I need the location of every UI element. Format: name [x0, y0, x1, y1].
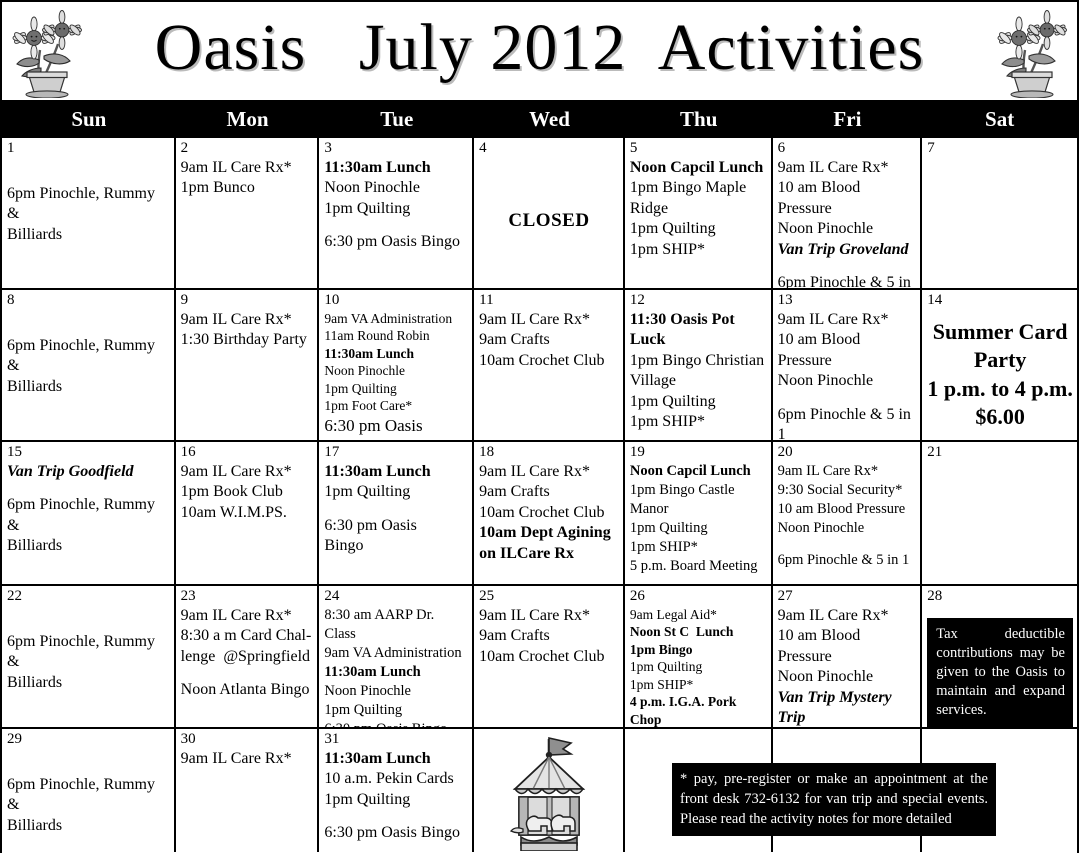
event-spacer: [7, 171, 170, 184]
day-cell-17[interactable]: 1711:30am Lunch1pm Quilting6:30 pm Oasis…: [319, 442, 474, 584]
event-item: 9am VA Administration: [324, 310, 468, 328]
event-item: 10am Crochet Club: [479, 351, 619, 371]
day-number: 20: [778, 444, 917, 462]
event-item: 9am IL Care Rx*: [181, 606, 314, 626]
event-item: Noon Pinochle: [324, 682, 468, 701]
day-cell-24[interactable]: 248:30 am AARP Dr. Class9am VA Administr…: [319, 586, 474, 727]
event-list: 6pm Pinochle, Rummy &Billiards: [7, 158, 170, 245]
event-item: 10 am Blood Pressure: [778, 626, 917, 667]
day-cell-27[interactable]: 279am IL Care Rx*10 am Blood PressureNoo…: [773, 586, 923, 727]
event-item: Noon St C Lunch: [630, 623, 767, 641]
day-cell-31[interactable]: 3111:30am Lunch10 a.m. Pekin Cards1pm Qu…: [319, 729, 474, 852]
day-cell-19[interactable]: 19Noon Capcil Lunch1pm Bingo CastleManor…: [625, 442, 773, 584]
event-item: 10am Crochet Club: [479, 647, 619, 667]
event-list: 9am IL Care Rx*10 am Blood PressureNoon …: [778, 310, 917, 440]
day-number: 12: [630, 292, 767, 310]
event-list: Van Trip Goodfield6pm Pinochle, Rummy &B…: [7, 462, 170, 557]
day-cell-16[interactable]: 169am IL Care Rx*1pm Book Club10am W.I.M…: [176, 442, 320, 584]
event-item: 9:30 Social Security*: [778, 481, 917, 500]
event-item: Noon Pinochle: [778, 519, 917, 538]
day-number: 7: [927, 140, 1073, 158]
event-item: Billiards: [7, 377, 170, 397]
event-item: 6pm Pinochle, Rummy &: [7, 184, 170, 225]
event-list: Noon Capcil Lunch1pm Bingo CastleManor1p…: [630, 462, 767, 577]
event-list: 9am IL Care Rx*10 am Blood PressureNoon …: [778, 606, 917, 727]
event-item: Noon Pinochle: [778, 219, 917, 239]
event-list: 9am IL Care Rx*1pm Book Club10am W.I.M.P…: [181, 462, 314, 523]
day-cell-11[interactable]: 119am IL Care Rx*9am Crafts10am Crochet …: [474, 290, 625, 440]
event-item: Noon Capcil Lunch: [630, 158, 767, 178]
event-item: 11:30 Oasis Pot Luck: [630, 310, 767, 351]
event-item: 9am IL Care Rx*: [181, 158, 314, 178]
day-number: 30: [181, 731, 314, 749]
day-cell-20[interactable]: 209am IL Care Rx*9:30 Social Security*10…: [773, 442, 923, 584]
event-item: Van Trip Mystery Trip: [778, 688, 917, 727]
day-cell-5[interactable]: 5Noon Capcil Lunch1pm Bingo MapleRidge1p…: [625, 138, 773, 288]
event-item: Ridge: [630, 199, 767, 219]
event-list: 6pm Pinochle, Rummy &Billiards: [7, 749, 170, 836]
event-item: 6:30 pm Oasis Bingo: [324, 823, 468, 843]
event-item: 9am IL Care Rx*: [181, 310, 314, 330]
event-item: 1pm Bingo Castle: [630, 481, 767, 500]
event-item: 9am Crafts: [479, 626, 619, 646]
event-spacer: [7, 482, 170, 495]
day-number: 16: [181, 444, 314, 462]
event-list: 11:30am LunchNoon Pinochle1pm Quilting6:…: [324, 158, 468, 253]
day-cell-8[interactable]: 86pm Pinochle, Rummy &Billiards: [2, 290, 176, 440]
day-number: 29: [7, 731, 170, 749]
event-spacer: [7, 158, 170, 171]
event-item: Bingo: [324, 536, 468, 556]
event-item: 9am IL Care Rx*: [778, 158, 917, 178]
event-item: 1pm Quilting: [630, 219, 767, 239]
day-number: 11: [479, 292, 619, 310]
event-list: 9am IL Care Rx*9am Crafts10am Crochet Cl…: [479, 606, 619, 667]
event-list: 6pm Pinochle, Rummy &Billiards: [7, 606, 170, 693]
feature-line: $6.00: [927, 403, 1073, 432]
event-item: 10 a.m. Pekin Cards: [324, 769, 468, 789]
day-cell-22[interactable]: 226pm Pinochle, Rummy &Billiards: [2, 586, 176, 727]
day-number: 6: [778, 140, 917, 158]
event-item: 6:30 pm Oasis Bingo: [324, 415, 468, 440]
event-item: 11:30am Lunch: [324, 663, 468, 682]
day-number: 2: [181, 140, 314, 158]
event-item: 6:30 pm Oasis Bingo: [324, 720, 468, 727]
day-number: 25: [479, 588, 619, 606]
event-spacer: [7, 762, 170, 775]
feature-line: 1 p.m. to 4 p.m.: [927, 375, 1073, 404]
event-item: 6pm Pinochle, Rummy &: [7, 495, 170, 536]
day-number: 26: [630, 588, 767, 606]
event-item: 1pm SHIP*: [630, 538, 767, 557]
calendar-week-row: 16pm Pinochle, Rummy &Billiards29am IL C…: [2, 136, 1077, 288]
event-item: 1pm Quilting: [324, 380, 468, 398]
weekday-header-thu: Thu: [625, 103, 773, 136]
day-number: 18: [479, 444, 619, 462]
event-item: Billiards: [7, 816, 170, 836]
event-item: Van Trip Groveland: [778, 240, 917, 260]
event-item: 11:30am Lunch: [324, 462, 468, 482]
page-title: Oasis July 2012 Activities: [155, 15, 925, 87]
event-list: 9am IL Care Rx*9am Crafts10am Crochet Cl…: [479, 310, 619, 371]
event-item: Noon Pinochle: [778, 667, 917, 687]
event-item: lenge @Springfield: [181, 647, 314, 667]
event-item: 9am Crafts: [479, 330, 619, 350]
day-cell-2[interactable]: 29am IL Care Rx*1pm Bunco: [176, 138, 320, 288]
day-number: 13: [778, 292, 917, 310]
event-spacer: [324, 219, 468, 232]
event-list: 11:30 Oasis Pot Luck1pm Bingo ChristianV…: [630, 310, 767, 433]
event-item: 9am IL Care Rx*: [181, 462, 314, 482]
event-item: 10am Crochet Club: [479, 503, 619, 523]
event-list: 9am IL Care Rx*1pm Bunco: [181, 158, 314, 199]
event-item: 5 p.m. Board Meeting: [630, 557, 767, 576]
event-item: 9am Legal Aid*: [630, 606, 767, 624]
day-number: 17: [324, 444, 468, 462]
event-item: 1:30 Birthday Party: [181, 330, 314, 350]
event-list: 11:30am Lunch1pm Quilting6:30 pm OasisBi…: [324, 462, 468, 557]
event-item: 1pm Bingo Maple: [630, 178, 767, 198]
event-item: 4 p.m. I.G.A. Pork Chop: [630, 693, 767, 727]
day-number: 22: [7, 588, 170, 606]
event-item: 6pm Pinochle & 5 in 1: [778, 551, 917, 570]
day-number: 27: [778, 588, 917, 606]
weekday-header-mon: Mon: [176, 103, 320, 136]
event-item: 6pm Pinochle, Rummy &: [7, 632, 170, 673]
event-list: 8:30 am AARP Dr. Class9am VA Administrat…: [324, 606, 468, 727]
event-item: Noon Pinochle: [778, 371, 917, 391]
day-number: 31: [324, 731, 468, 749]
day-number: 8: [7, 292, 170, 310]
event-item: 1pm SHIP*: [630, 412, 767, 432]
event-item: 11am Round Robin: [324, 327, 468, 345]
event-item: 6pm Pinochle, Rummy &: [7, 336, 170, 377]
sunflower-pot-icon-right: [993, 6, 1071, 98]
day-cell-1[interactable]: 16pm Pinochle, Rummy &Billiards: [2, 138, 176, 288]
day-cell-15[interactable]: 15Van Trip Goodfield6pm Pinochle, Rummy …: [2, 442, 176, 584]
event-item: 1pm Quilting: [630, 392, 767, 412]
event-item: 1pm Bingo: [630, 641, 767, 659]
event-list: 9am IL Care Rx*: [181, 749, 314, 769]
event-item: 9am IL Care Rx*: [778, 310, 917, 330]
day-number: 9: [181, 292, 314, 310]
event-item: on ILCare Rx: [479, 544, 619, 564]
event-spacer: [778, 260, 917, 273]
day-cell-23[interactable]: 239am IL Care Rx*8:30 a m Card Chal-leng…: [176, 586, 320, 727]
event-list: 6pm Pinochle, Rummy &Billiards: [7, 310, 170, 397]
event-item: 1pm Quilting: [324, 482, 468, 502]
day-number: 4: [479, 140, 619, 158]
event-item: 6pm Pinochle & 5 in 1: [778, 405, 917, 440]
feature-line: Summer Card: [927, 318, 1073, 347]
event-spacer: [324, 503, 468, 516]
feature-event: Summer CardParty1 p.m. to 4 p.m.$6.00: [927, 318, 1073, 432]
weekday-header-sat: Sat: [922, 103, 1077, 136]
event-item: 1pm Quilting: [630, 519, 767, 538]
event-item: Billiards: [7, 225, 170, 245]
event-spacer: [7, 619, 170, 632]
day-number: 19: [630, 444, 767, 462]
day-number: 14: [927, 292, 1073, 310]
event-item: Billiards: [7, 536, 170, 556]
day-cell-10[interactable]: 109am VA Administration11am Round Robin1…: [319, 290, 474, 440]
carousel-icon: [479, 731, 619, 851]
day-cell-6[interactable]: 69am IL Care Rx*10 am Blood PressureNoon…: [773, 138, 923, 288]
day-cell-26[interactable]: 269am Legal Aid*Noon St C Lunch1pm Bingo…: [625, 586, 773, 727]
event-spacer: [324, 810, 468, 823]
event-item: 6:30 pm Oasis Bingo: [324, 232, 468, 252]
event-item: 1pm Quilting: [324, 701, 468, 720]
event-list: Noon Capcil Lunch1pm Bingo MapleRidge1pm…: [630, 158, 767, 260]
event-item: Village: [630, 371, 767, 391]
day-number: 15: [7, 444, 170, 462]
calendar-title-band: Oasis July 2012 Activities: [2, 2, 1077, 103]
event-item: 9am IL Care Rx*: [778, 606, 917, 626]
event-item: Noon Atlanta Bingo: [181, 680, 314, 700]
event-item: 1pm Book Club: [181, 482, 314, 502]
event-item: 1pm Bunco: [181, 178, 314, 198]
event-item: 10am Dept Agining: [479, 523, 619, 543]
calendar-week-row: 86pm Pinochle, Rummy &Billiards99am IL C…: [2, 288, 1077, 440]
event-spacer: [7, 310, 170, 323]
event-spacer: [778, 392, 917, 405]
event-item: 1pm SHIP*: [630, 676, 767, 694]
weekday-header-row: SunMonTueWedThuFriSat: [2, 103, 1077, 136]
calendar-page: Oasis July 2012 Activities: [0, 0, 1079, 853]
event-list: 9am VA Administration11am Round Robin11:…: [324, 310, 468, 440]
event-item: 8:30 am AARP Dr. Class: [324, 606, 468, 644]
event-item: 1pm Quilting: [630, 658, 767, 676]
event-item: 10 am Blood Pressure: [778, 330, 917, 371]
event-item: 6pm Pinochle & 5 in 1: [778, 273, 917, 288]
event-item: 1pm SHIP*: [630, 240, 767, 260]
day-number: 21: [927, 444, 1073, 462]
event-item: 6:30 pm Oasis: [324, 516, 468, 536]
event-item: 11:30am Lunch: [324, 749, 468, 769]
day-cell-29[interactable]: 296pm Pinochle, Rummy &Billiards: [2, 729, 176, 852]
calendar-week-row: 15Van Trip Goodfield6pm Pinochle, Rummy …: [2, 440, 1077, 584]
day-cell-25[interactable]: 259am IL Care Rx*9am Crafts10am Crochet …: [474, 586, 625, 727]
day-number: 10: [324, 292, 468, 310]
event-item: 9am IL Care Rx*: [479, 462, 619, 482]
closed-label: CLOSED: [479, 210, 619, 232]
event-item: 8:30 a m Card Chal-: [181, 626, 314, 646]
event-item: Manor: [630, 500, 767, 519]
event-list: 9am IL Care Rx*9am Crafts10am Crochet Cl…: [479, 462, 619, 564]
day-cell-4[interactable]: 4CLOSED: [474, 138, 625, 288]
day-cell-13[interactable]: 139am IL Care Rx*10 am Blood PressureNoo…: [773, 290, 923, 440]
event-item: Noon Pinochle: [324, 178, 468, 198]
day-cell-18[interactable]: 189am IL Care Rx*9am Crafts10am Crochet …: [474, 442, 625, 584]
event-list: 9am IL Care Rx*1:30 Birthday Party: [181, 310, 314, 351]
event-spacer: [778, 538, 917, 551]
event-item: 9am Crafts: [479, 482, 619, 502]
day-cell-7[interactable]: 7: [922, 138, 1077, 288]
day-number: 1: [7, 140, 170, 158]
day-cell-3[interactable]: 311:30am LunchNoon Pinochle1pm Quilting6…: [319, 138, 474, 288]
event-list: 9am Legal Aid*Noon St C Lunch1pm Bingo1p…: [630, 606, 767, 727]
event-item: 9am IL Care Rx*: [479, 606, 619, 626]
event-spacer: [7, 749, 170, 762]
event-item: Van Trip Goodfield: [7, 462, 170, 482]
day-cell-30[interactable]: 309am IL Care Rx*: [176, 729, 320, 852]
day-cell-empty[interactable]: [474, 729, 625, 852]
day-cell-28[interactable]: 28Tax deductible contributions may be gi…: [922, 586, 1077, 727]
event-list: 11:30am Lunch10 a.m. Pekin Cards1pm Quil…: [324, 749, 468, 844]
event-item: 1pm Bingo Christian: [630, 351, 767, 371]
donation-notice: Tax deductible contributions may be give…: [927, 618, 1073, 727]
event-item: 1pm Foot Care*: [324, 397, 468, 415]
event-list: 9am IL Care Rx*9:30 Social Security*10 a…: [778, 462, 917, 571]
event-item: Billiards: [7, 673, 170, 693]
event-item: 11:30am Lunch: [324, 158, 468, 178]
footnote-notice: * pay, pre-register or make an appointme…: [672, 763, 996, 836]
weekday-header-wed: Wed: [474, 103, 625, 136]
event-spacer: [7, 323, 170, 336]
event-item: 10 am Blood Pressure: [778, 178, 917, 219]
event-item: 9am IL Care Rx*: [479, 310, 619, 330]
sunflower-pot-icon: [8, 6, 86, 98]
event-item: 6pm Pinochle, Rummy &: [7, 775, 170, 816]
day-cell-21[interactable]: 21: [922, 442, 1077, 584]
event-item: 9am VA Administration: [324, 644, 468, 663]
event-spacer: [7, 606, 170, 619]
day-cell-12[interactable]: 1211:30 Oasis Pot Luck1pm Bingo Christia…: [625, 290, 773, 440]
event-item: Noon Capcil Lunch: [630, 462, 767, 481]
event-list: 9am IL Care Rx*10 am Blood PressureNoon …: [778, 158, 917, 288]
weekday-header-sun: Sun: [2, 103, 176, 136]
day-cell-9[interactable]: 99am IL Care Rx*1:30 Birthday Party: [176, 290, 320, 440]
feature-line: Party: [927, 346, 1073, 375]
event-list: 9am IL Care Rx*8:30 a m Card Chal-lenge …: [181, 606, 314, 701]
event-item: 1pm Quilting: [324, 199, 468, 219]
calendar-week-row: 226pm Pinochle, Rummy &Billiards239am IL…: [2, 584, 1077, 727]
weekday-header-tue: Tue: [319, 103, 474, 136]
event-item: 11:30am Lunch: [324, 345, 468, 363]
event-item: 10am W.I.M.PS.: [181, 503, 314, 523]
event-item: 9am IL Care Rx*: [181, 749, 314, 769]
event-item: 1pm Quilting: [324, 790, 468, 810]
calendar-grid: 16pm Pinochle, Rummy &Billiards29am IL C…: [2, 136, 1077, 852]
day-number: 24: [324, 588, 468, 606]
event-spacer: [181, 667, 314, 680]
event-item: Noon Pinochle: [324, 362, 468, 380]
day-number: 5: [630, 140, 767, 158]
day-number: 28: [927, 588, 1073, 606]
day-number: 23: [181, 588, 314, 606]
event-item: 10 am Blood Pressure: [778, 500, 917, 519]
day-cell-14[interactable]: 14Summer CardParty1 p.m. to 4 p.m.$6.00: [922, 290, 1077, 440]
event-item: 9am IL Care Rx*: [778, 462, 917, 481]
day-number: 3: [324, 140, 468, 158]
weekday-header-fri: Fri: [773, 103, 923, 136]
